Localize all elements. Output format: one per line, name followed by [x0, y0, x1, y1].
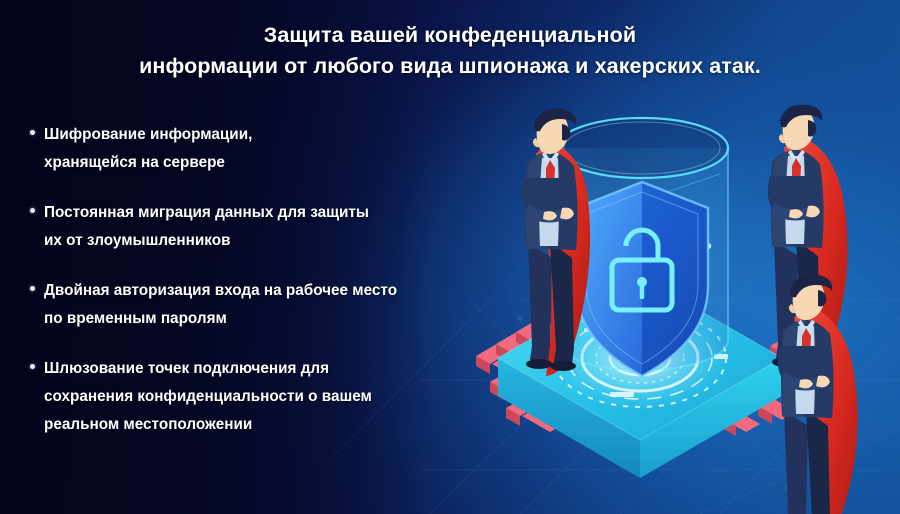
title-line-2: информации от любого вида шпионажа и хак…	[0, 51, 900, 82]
list-item-line: Постоянная миграция данных для защиты	[44, 199, 369, 227]
list-item-line: Шлюзование точек подключения для	[44, 355, 372, 383]
banner-title: Защита вашей конфеденциальной информации…	[0, 20, 900, 82]
security-banner: Защита вашей конфеденциальной информации…	[0, 0, 900, 514]
bullet-dot-icon	[30, 364, 35, 369]
list-item: Шлюзование точек подключения для сохране…	[22, 355, 502, 439]
list-item-line: реальном местоположении	[44, 411, 372, 439]
list-item: Двойная авторизация входа на рабочее мес…	[22, 277, 502, 333]
list-item-text: Двойная авторизация входа на рабочее мес…	[44, 277, 397, 333]
bullet-dot-icon	[30, 208, 35, 213]
bullet-dot-icon	[30, 286, 35, 291]
list-item-line: по временным паролям	[44, 305, 397, 333]
list-item-line: Двойная авторизация входа на рабочее мес…	[44, 277, 397, 305]
businessman-hero-right-front	[778, 275, 858, 514]
list-item-line: Шифрование информации,	[44, 121, 252, 149]
list-item-text: Шифрование информации, хранящейся на сер…	[44, 121, 252, 177]
security-illustration	[470, 78, 900, 514]
list-item-line: хранящейся на сервере	[44, 149, 252, 177]
bullet-dot-icon	[30, 130, 35, 135]
list-item-text: Шлюзование точек подключения для сохране…	[44, 355, 372, 439]
list-item: Шифрование информации, хранящейся на сер…	[22, 121, 502, 177]
title-line-1: Защита вашей конфеденциальной	[264, 23, 636, 47]
list-item: Постоянная миграция данных для защиты их…	[22, 199, 502, 255]
list-item-text: Постоянная миграция данных для защиты их…	[44, 199, 369, 255]
list-item-line: их от злоумышленников	[44, 227, 369, 255]
feature-list: Шифрование информации, хранящейся на сер…	[22, 121, 502, 439]
list-item-line: сохранения конфиденциальности о вашем	[44, 383, 372, 411]
